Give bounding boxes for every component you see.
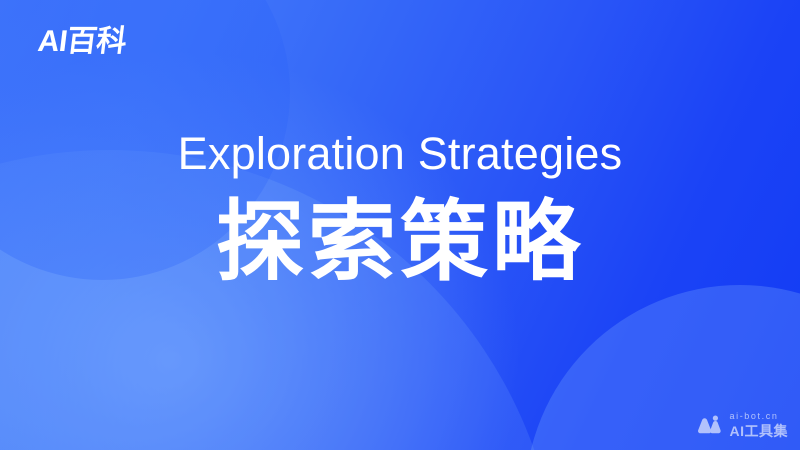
watermark-domain: ai-bot.cn <box>730 412 789 421</box>
two-peaks-icon <box>697 415 723 435</box>
title-block: Exploration Strategies 探索策略 <box>0 128 800 288</box>
title-chinese: 探索策略 <box>0 196 800 288</box>
watermark-text: ai-bot.cn AI工具集 <box>730 412 789 438</box>
title-english: Exploration Strategies <box>0 128 800 180</box>
cover-image: AI百科 Exploration Strategies 探索策略 ai-bot.… <box>0 0 800 450</box>
watermark-brand: AI工具集 <box>730 424 789 438</box>
watermark: ai-bot.cn AI工具集 <box>697 412 789 438</box>
brand-logo: AI百科 <box>36 27 128 57</box>
